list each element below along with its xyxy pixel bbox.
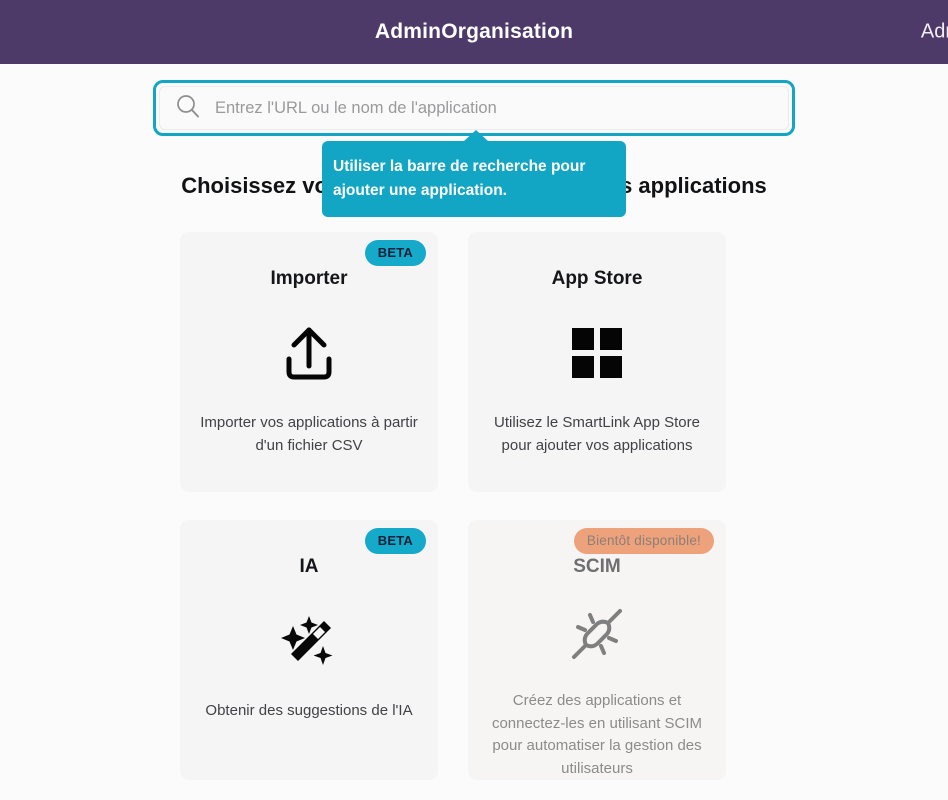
search-tooltip: Utiliser la barre de recherche pour ajou… (322, 141, 626, 217)
app-header: AdminOrganisation Adm (0, 0, 948, 64)
card-importer[interactable]: BETA Importer Importer vos applications … (180, 232, 438, 492)
card-description: Utilisez le SmartLink App Store pour ajo… (486, 412, 708, 457)
grid-cell (572, 328, 594, 350)
card-title: SCIM (573, 556, 621, 578)
grid-cell (600, 356, 622, 378)
grid-icon (572, 316, 622, 390)
card-description: Obtenir des suggestions de l'IA (205, 700, 412, 723)
search-bar-inner[interactable] (159, 86, 789, 130)
page-title: AdminOrganisation (375, 20, 573, 44)
magic-wand-icon (276, 604, 342, 678)
badge-beta: BETA (365, 528, 426, 554)
method-card-grid: BETA Importer Importer vos applications … (180, 232, 726, 780)
badge-coming-soon: Bientôt disponible! (574, 528, 714, 554)
grid-cell (572, 356, 594, 378)
card-title: IA (300, 556, 319, 578)
tooltip-text: Utiliser la barre de recherche pour ajou… (333, 155, 612, 202)
search-input[interactable] (215, 86, 789, 130)
plug-connected-icon (566, 600, 628, 668)
badge-beta: BETA (365, 240, 426, 266)
card-app-store[interactable]: App Store Utilisez le SmartLink App Stor… (468, 232, 726, 492)
upload-icon (278, 316, 340, 390)
card-title: Importer (270, 268, 347, 290)
card-ia[interactable]: BETA IA Obtenir des suggestions de l'IA (180, 520, 438, 780)
tooltip-arrow-icon (464, 130, 488, 141)
card-description: Créez des applications et connectez-les … (486, 690, 708, 780)
card-title: App Store (552, 268, 643, 290)
search-icon (175, 93, 201, 124)
card-description: Importer vos applications à partir d'un … (198, 412, 420, 457)
card-scim: Bientôt disponible! SCIM Créez des appli… (468, 520, 726, 780)
header-account-label[interactable]: Adm (921, 21, 948, 44)
page-content: Choisissez votre méthode pour ajouter vo… (0, 64, 948, 800)
grid-cell (600, 328, 622, 350)
search-bar[interactable] (153, 80, 795, 136)
